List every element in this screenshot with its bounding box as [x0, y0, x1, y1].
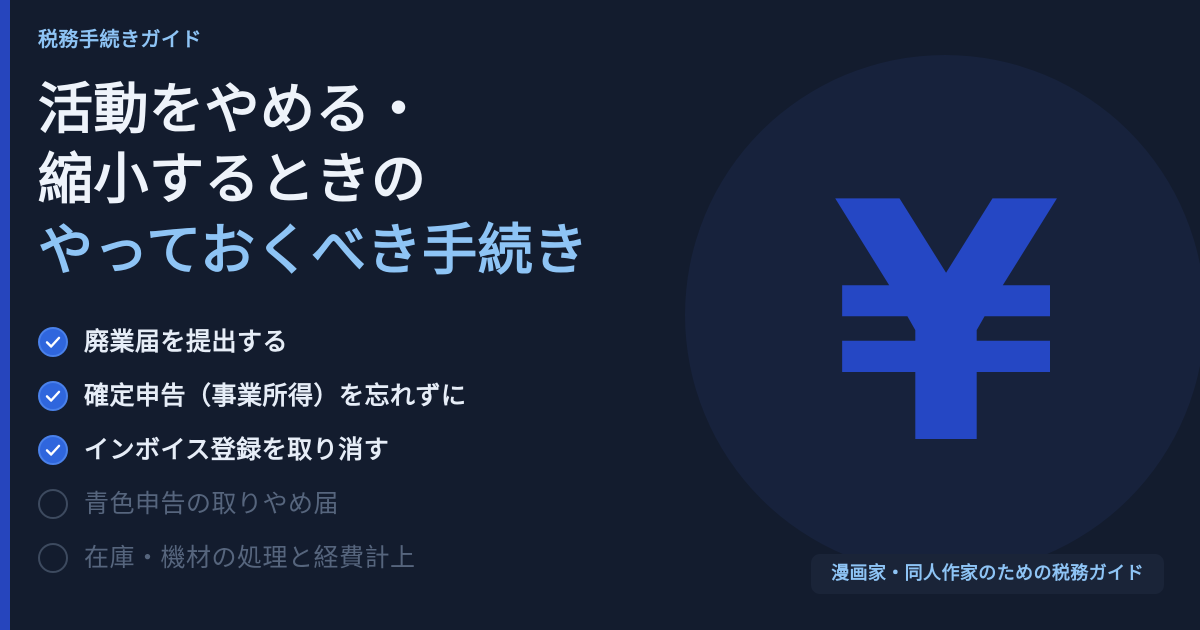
- check-circle-filled-icon: [38, 327, 68, 357]
- social-card: ¥ 税務手続きガイド 活動をやめる・ 縮小するときの やっておくべき手続き 廃業…: [0, 0, 1200, 630]
- content-column: 税務手続きガイド 活動をやめる・ 縮小するときの やっておくべき手続き 廃業届を…: [38, 28, 698, 585]
- checklist-item-label: インボイス登録を取り消す: [84, 438, 389, 463]
- list-item[interactable]: 確定申告（事業所得）を忘れずに: [38, 369, 698, 423]
- page-title: 活動をやめる・ 縮小するときの やっておくべき手続き: [38, 74, 698, 285]
- title-line-2: 縮小するときの: [38, 144, 698, 214]
- empty-circle-icon: [38, 543, 68, 573]
- yen-currency-icon: ¥: [806, 155, 1086, 495]
- list-item[interactable]: 廃業届を提出する: [38, 315, 698, 369]
- check-circle-filled-icon: [38, 381, 68, 411]
- title-line-3: やっておくべき手続き: [38, 215, 698, 285]
- checklist: 廃業届を提出する 確定申告（事業所得）を忘れずに インボイス登録を取り消す 青色…: [38, 315, 698, 585]
- eyebrow-label: 税務手続きガイド: [38, 28, 698, 52]
- empty-circle-icon: [38, 489, 68, 519]
- list-item[interactable]: インボイス登録を取り消す: [38, 423, 698, 477]
- list-item[interactable]: 青色申告の取りやめ届: [38, 477, 698, 531]
- checklist-item-label: 廃業届を提出する: [84, 330, 288, 355]
- check-circle-filled-icon: [38, 435, 68, 465]
- title-line-1: 活動をやめる・: [38, 74, 698, 144]
- checklist-item-label: 確定申告（事業所得）を忘れずに: [84, 384, 467, 409]
- checklist-item-label: 在庫・機材の処理と経費計上: [84, 546, 416, 571]
- list-item[interactable]: 在庫・機材の処理と経費計上: [38, 531, 698, 585]
- checklist-item-label: 青色申告の取りやめ届: [84, 492, 339, 517]
- brand-badge: 漫画家・同人作家のための税務ガイド: [811, 554, 1164, 594]
- left-accent-bar: [0, 0, 10, 630]
